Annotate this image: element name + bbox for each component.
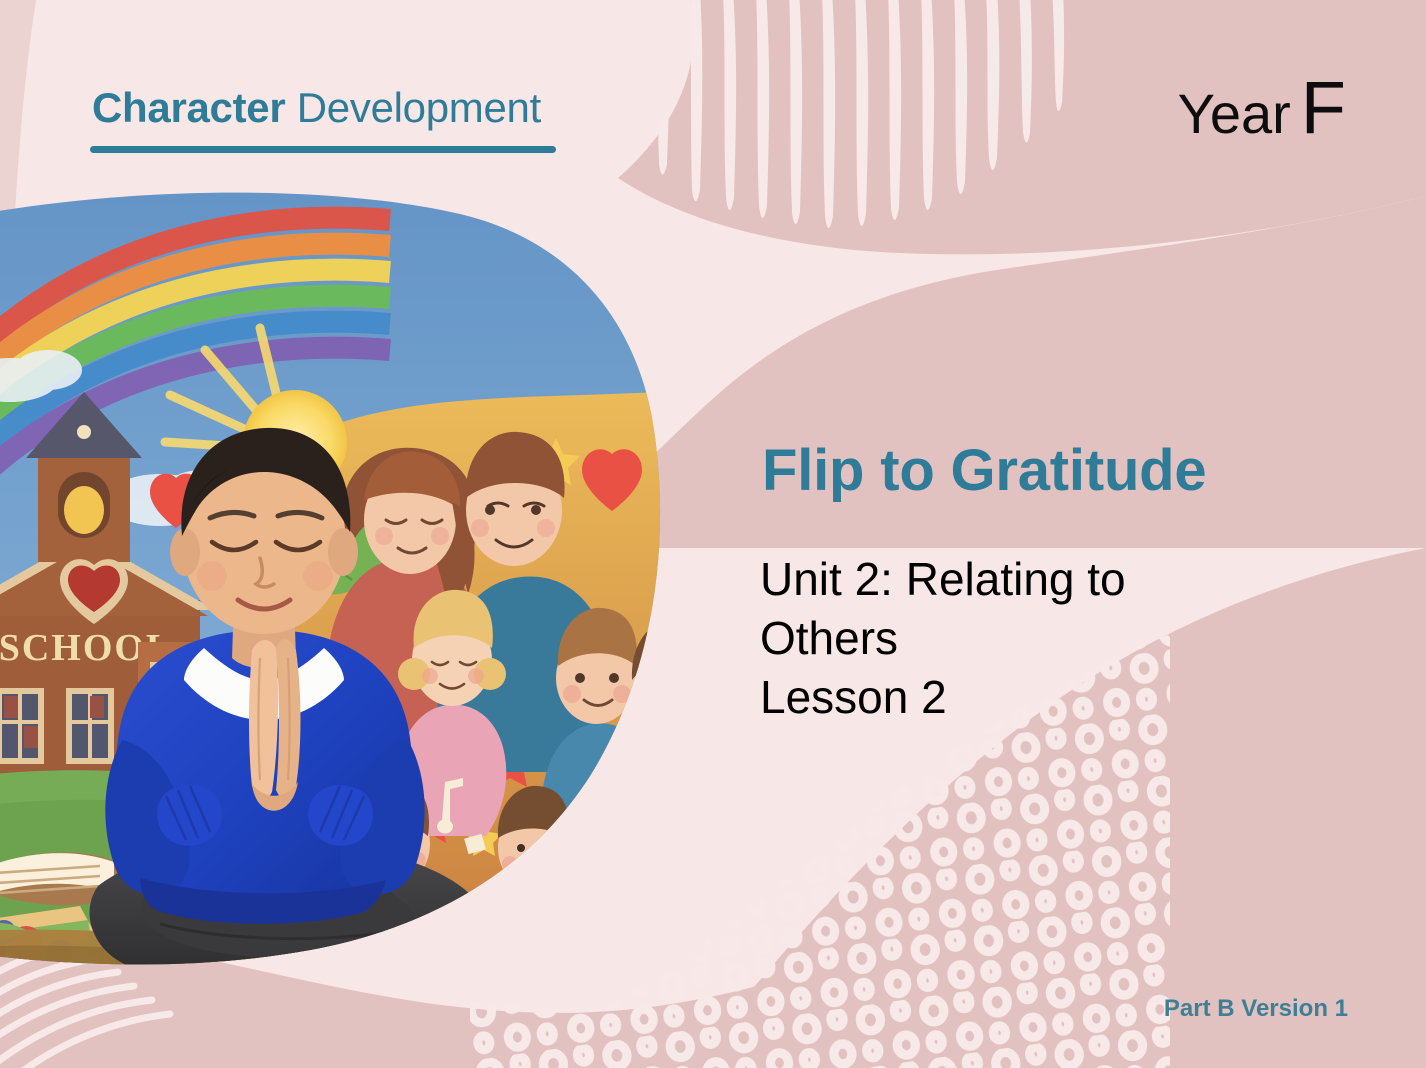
page-title-regular: Development bbox=[285, 84, 541, 131]
year-word: Year bbox=[1178, 81, 1291, 146]
gratitude-collage-photo: SCHOOL bbox=[0, 180, 700, 980]
page-title-bold: Character bbox=[92, 84, 285, 131]
unit-line: Unit 2: Relating to Others bbox=[760, 550, 1240, 668]
slide-root: Character Development Year F bbox=[0, 0, 1426, 1068]
year-label: Year F bbox=[1178, 75, 1346, 146]
title-underline bbox=[90, 146, 556, 153]
lesson-title: Flip to Gratitude bbox=[762, 437, 1206, 504]
version-label: Part B Version 1 bbox=[1164, 995, 1348, 1023]
year-value: F bbox=[1301, 75, 1346, 142]
lesson-line: Lesson 2 bbox=[760, 668, 1240, 727]
lesson-subtitle: Unit 2: Relating to Others Lesson 2 bbox=[760, 550, 1240, 727]
page-title: Character Development bbox=[92, 84, 541, 132]
